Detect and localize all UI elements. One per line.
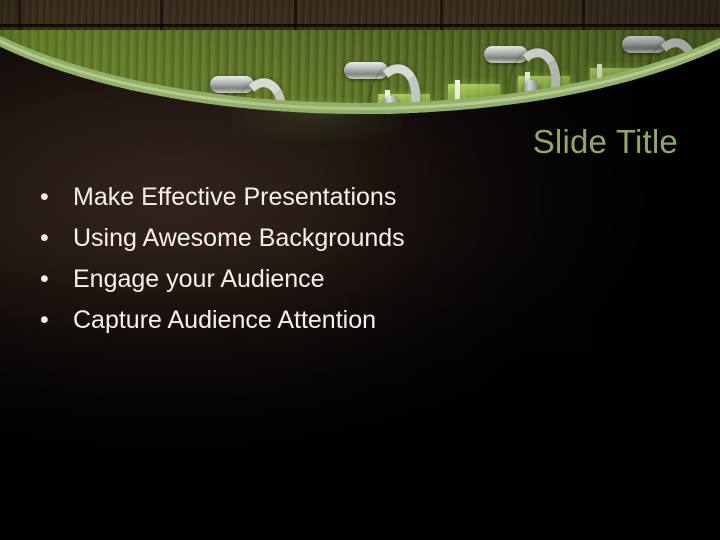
list-item[interactable]: • Engage your Audience [40,262,640,303]
list-item-label: Make Effective Presentations [73,180,640,214]
slide-canvas: Slide Title • Make Effective Presentatio… [0,0,720,540]
list-item[interactable]: • Make Effective Presentations [40,180,640,221]
bullet-marker-icon: • [40,180,73,214]
list-item-label: Engage your Audience [73,262,640,296]
bullet-list[interactable]: • Make Effective Presentations • Using A… [40,180,640,344]
list-item[interactable]: • Capture Audience Attention [40,303,640,344]
list-item-label: Capture Audience Attention [73,303,640,337]
list-item-label: Using Awesome Backgrounds [73,221,640,255]
list-item[interactable]: • Using Awesome Backgrounds [40,221,640,262]
card-catalog-photo [0,0,720,114]
page-title[interactable]: Slide Title [533,122,678,162]
banner-image-inner [0,0,720,114]
banner-image [0,0,720,114]
bullet-marker-icon: • [40,303,73,337]
photo-shading-overlay [0,0,720,114]
bullet-marker-icon: • [40,221,73,255]
bullet-marker-icon: • [40,262,73,296]
